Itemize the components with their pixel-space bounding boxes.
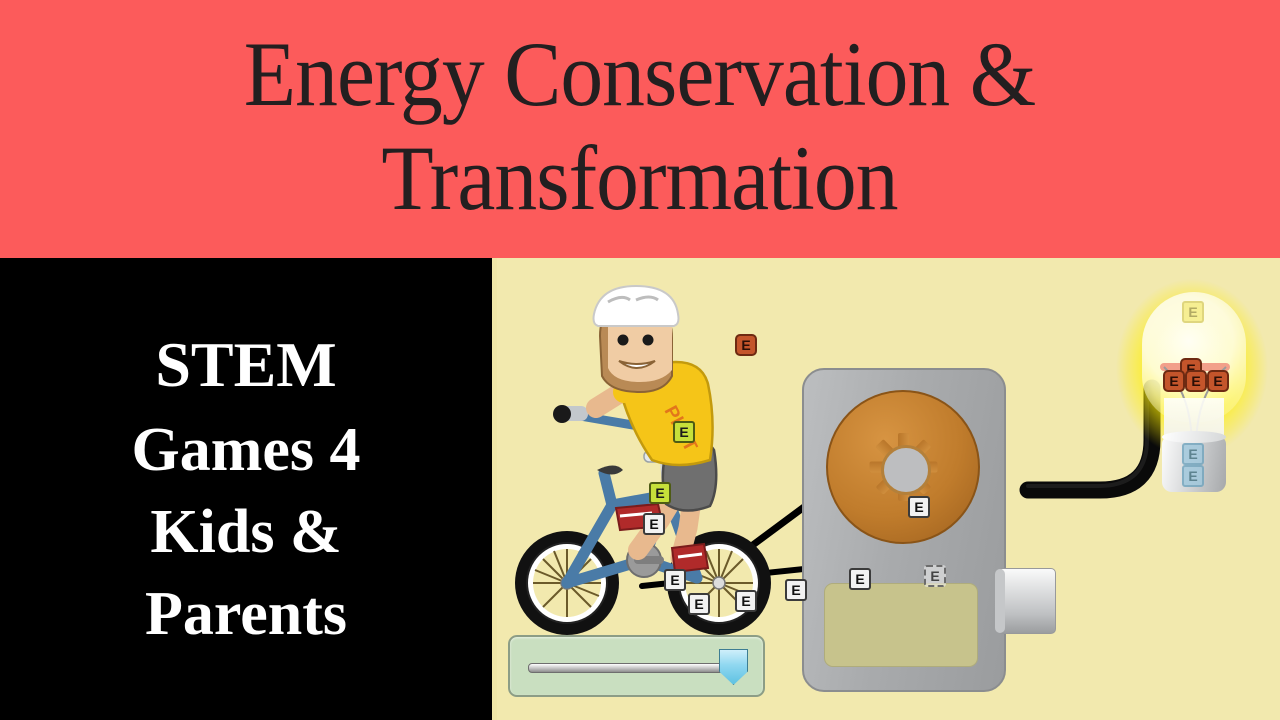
- handlebar-grip: [558, 406, 588, 421]
- generator[interactable]: [802, 368, 1012, 698]
- energy-chunk-thermal: E: [1185, 370, 1207, 392]
- energy-chunk-mechanical: E: [688, 593, 710, 615]
- handlebar-end-cap: [553, 405, 571, 423]
- title-line-1: Energy Conservation &: [244, 30, 1036, 118]
- helmet-vent-1: [608, 297, 630, 302]
- brand-line-kids: Kids &: [150, 501, 341, 563]
- brand-line-stem: STEM: [155, 333, 336, 397]
- energy-chunk-thermal: E: [1207, 370, 1229, 392]
- cyclist-shoe-front: [672, 544, 708, 572]
- bike-handlebar: [580, 416, 662, 430]
- energy-chunk-thermal: E: [735, 334, 757, 356]
- energy-chunk-mechanical: E: [643, 513, 665, 535]
- cyclist-hair: [600, 302, 672, 392]
- wheel-hub: [881, 445, 931, 495]
- simulation-stage[interactable]: PhET: [492, 258, 1280, 720]
- energy-chunk-mechanical: E: [785, 579, 807, 601]
- energy-chunk-light: E: [1182, 301, 1204, 323]
- energy-chunk-chemical: E: [673, 421, 695, 443]
- bike-rear-wheel: [515, 531, 619, 635]
- screenshot-root: Energy Conservation & Transformation STE…: [0, 0, 1280, 720]
- title-banner: Energy Conservation & Transformation: [0, 0, 1280, 258]
- energy-chunk-mechanical: E: [849, 568, 871, 590]
- generator-inner-panel: [824, 583, 978, 667]
- shoe-stripe-front: [678, 554, 702, 557]
- title-line-2: Transformation: [382, 134, 898, 222]
- stage-left-edge: [492, 258, 497, 720]
- bike-frame: [567, 473, 697, 583]
- cyclist-sleeve: [624, 376, 642, 392]
- cyclist-arm: [596, 388, 628, 408]
- cyclist-face: [608, 306, 672, 382]
- cyclist-eye-right: [643, 335, 654, 346]
- bike-stem: [644, 451, 682, 462]
- bike-seat: [597, 466, 623, 475]
- generator-output-connector: [998, 568, 1056, 634]
- cyclist-shirt: [620, 362, 713, 465]
- energy-chunk-electrical: E: [1182, 443, 1204, 465]
- bike-crank-arm: [634, 556, 664, 564]
- cyclist-smile: [619, 361, 655, 368]
- energy-chunk-mechanical: E: [735, 590, 757, 612]
- brand-line-parents: Parents: [145, 583, 347, 645]
- cyclist-helmet: [594, 286, 679, 326]
- energy-chunk-thermal: E: [1163, 370, 1185, 392]
- cyclist-head: [594, 286, 679, 392]
- brand-line-games: Games 4: [131, 419, 360, 481]
- bike-crank: [627, 543, 661, 577]
- energy-chunk-mechanical: E: [908, 496, 930, 518]
- energy-chunk-mechanical: E: [664, 569, 686, 591]
- brand-panel: STEM Games 4 Kids & Parents: [0, 258, 492, 720]
- energy-source-slider-panel[interactable]: [508, 635, 765, 697]
- helmet-vent-2: [636, 297, 658, 300]
- generator-wheel[interactable]: [826, 390, 980, 544]
- cyclist-eye-left: [618, 335, 629, 346]
- slider-thumb[interactable]: [719, 649, 748, 685]
- energy-chunk-electrical: E: [1182, 465, 1204, 487]
- energy-chunk-hidden: E: [924, 565, 946, 587]
- slider-track[interactable]: [528, 663, 736, 673]
- energy-chunk-chemical: E: [649, 482, 671, 504]
